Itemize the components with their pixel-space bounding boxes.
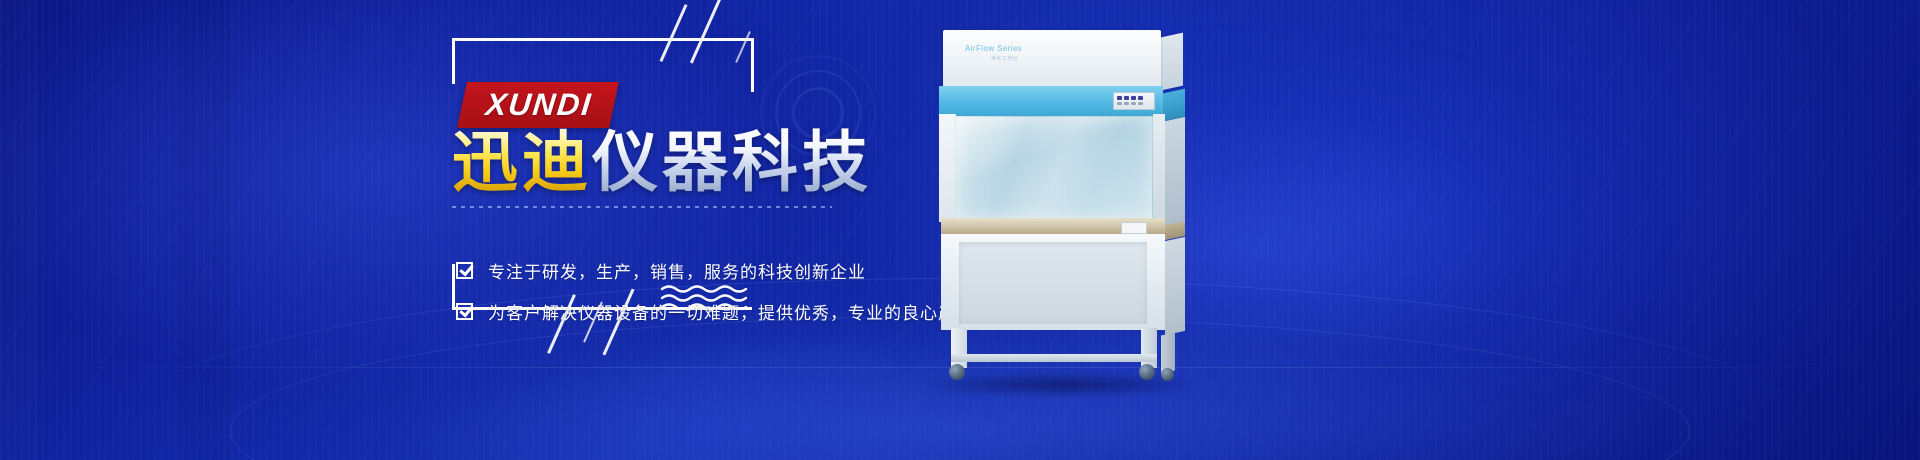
product-left-wall xyxy=(939,114,956,222)
product-panel-button-row xyxy=(1117,102,1143,105)
feature-bullet-list: 专注于研发，生产，销售，服务的科技创新企业 为客户解决仪器设备的一切难题，提供优… xyxy=(456,258,992,340)
product-image-clean-bench: AirFlow Series 净化工作台 xyxy=(925,18,1200,388)
list-item: 为客户解决仪器设备的一切难题，提供优秀，专业的良心产品！ xyxy=(456,299,992,324)
product-brand-label: AirFlow Series xyxy=(965,44,1022,53)
product-brand-sublabel: 净化工作台 xyxy=(991,55,1018,62)
title-part-silver: 仪器科技 xyxy=(592,128,872,197)
promo-banner: XUNDI 迅迪 仪器科技 专注于研发，生产，销售，服务的科技创新企业 为客户解… xyxy=(0,0,1920,460)
panel-indicator xyxy=(1138,96,1143,100)
panel-indicator xyxy=(1117,96,1122,100)
product-leg-right xyxy=(1141,328,1157,368)
product-top-box xyxy=(943,30,1161,88)
checkbox-check-icon xyxy=(456,303,473,320)
product-right-side-wall xyxy=(1165,117,1185,227)
product-shadow xyxy=(931,374,1193,396)
product-glass-reflection xyxy=(955,116,1153,220)
list-item-label: 专注于研发，生产，销售，服务的科技创新企业 xyxy=(488,258,866,283)
panel-button xyxy=(1117,102,1122,105)
panel-button xyxy=(1124,102,1129,105)
brand-logo-text: XUNDI xyxy=(468,88,610,122)
page-title: 迅迪 仪器科技 xyxy=(452,128,872,197)
product-caster-right xyxy=(1139,364,1155,380)
list-item-label: 为客户解决仪器设备的一切难题，提供优秀，专业的良心产品！ xyxy=(488,299,992,324)
product-body-side xyxy=(1165,237,1185,335)
product-label-sticker xyxy=(1121,222,1147,234)
product-top-box-side xyxy=(1161,33,1183,91)
product-caster-back xyxy=(1161,368,1174,381)
list-item: 专注于研发，生产，销售，服务的科技创新企业 xyxy=(456,258,992,283)
panel-button xyxy=(1138,102,1143,105)
product-control-panel xyxy=(1113,92,1155,110)
panel-indicator xyxy=(1124,96,1129,100)
product-panel-indicator-row xyxy=(1117,96,1143,100)
checkbox-check-icon xyxy=(456,262,473,279)
product-leg-crossbar xyxy=(951,354,1157,362)
title-part-gold: 迅迪 xyxy=(452,128,592,197)
product-right-wall xyxy=(1153,114,1165,222)
product-leg-left xyxy=(951,328,967,368)
product-body-recess xyxy=(959,242,1147,324)
title-dotted-underline xyxy=(452,206,832,208)
product-caster-left xyxy=(949,364,965,380)
panel-button xyxy=(1131,102,1136,105)
panel-indicator xyxy=(1131,96,1136,100)
